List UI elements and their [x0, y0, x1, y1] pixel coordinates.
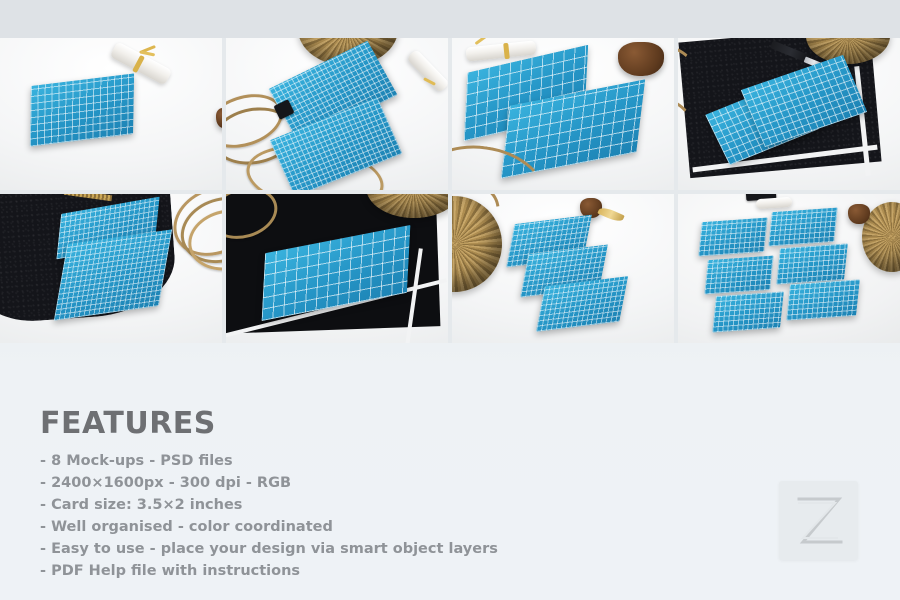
mockup-scene-4 [678, 38, 900, 190]
features-list-item: - Card size: 3.5×2 inches [40, 494, 600, 516]
mockup-scene-3 [452, 38, 674, 190]
business-card-mockup-4[interactable] [776, 243, 848, 284]
mockup-scene-5 [0, 194, 222, 343]
mockup-scene-2 [226, 38, 448, 190]
features-list-item: - 2400×1600px - 300 dpi - RGB [40, 472, 600, 494]
cork-accent [848, 204, 870, 224]
features-title: FEATURES [40, 408, 600, 440]
mockup-scene-6 [226, 194, 448, 343]
gallery-cell-7[interactable] [448, 190, 674, 343]
letter-z-icon [779, 481, 858, 560]
gallery-cell-1[interactable] [0, 38, 222, 190]
top-background-band [0, 0, 900, 38]
features-panel: FEATURES - 8 Mock-ups - PSD files - 2400… [40, 408, 600, 582]
watermark-logo [779, 481, 858, 560]
gallery-cell-8[interactable] [674, 190, 900, 343]
business-card-mockup[interactable] [30, 73, 134, 146]
gallery-cell-6[interactable] [222, 190, 448, 343]
features-list-item: - Well organised - color coordinated [40, 516, 600, 538]
features-list-item: - 8 Mock-ups - PSD files [40, 450, 600, 472]
business-card-mockup-2[interactable] [768, 208, 837, 247]
business-card-mockup-3[interactable] [704, 256, 773, 295]
features-list-item: - Easy to use - place your design via sm… [40, 538, 600, 560]
gallery-cell-2[interactable] [222, 38, 448, 190]
cork-accent [618, 42, 664, 76]
mockup-scene-7 [452, 194, 674, 343]
mockup-preview-page: FEATURES - 8 Mock-ups - PSD files - 2400… [0, 0, 900, 600]
features-list-item: - PDF Help file with instructions [40, 560, 600, 582]
gallery-cell-5[interactable] [0, 190, 222, 343]
business-card-mockup-6[interactable] [786, 279, 860, 320]
business-card-mockup[interactable] [698, 218, 767, 257]
mockup-scene-1 [0, 38, 222, 190]
gallery-cell-4[interactable] [674, 38, 900, 190]
mockup-scene-8 [678, 194, 900, 343]
features-list: - 8 Mock-ups - PSD files - 2400×1600px -… [40, 450, 600, 582]
mockup-gallery-grid [0, 38, 900, 343]
business-card-mockup-5[interactable] [712, 291, 784, 332]
gallery-cell-3[interactable] [448, 38, 674, 190]
